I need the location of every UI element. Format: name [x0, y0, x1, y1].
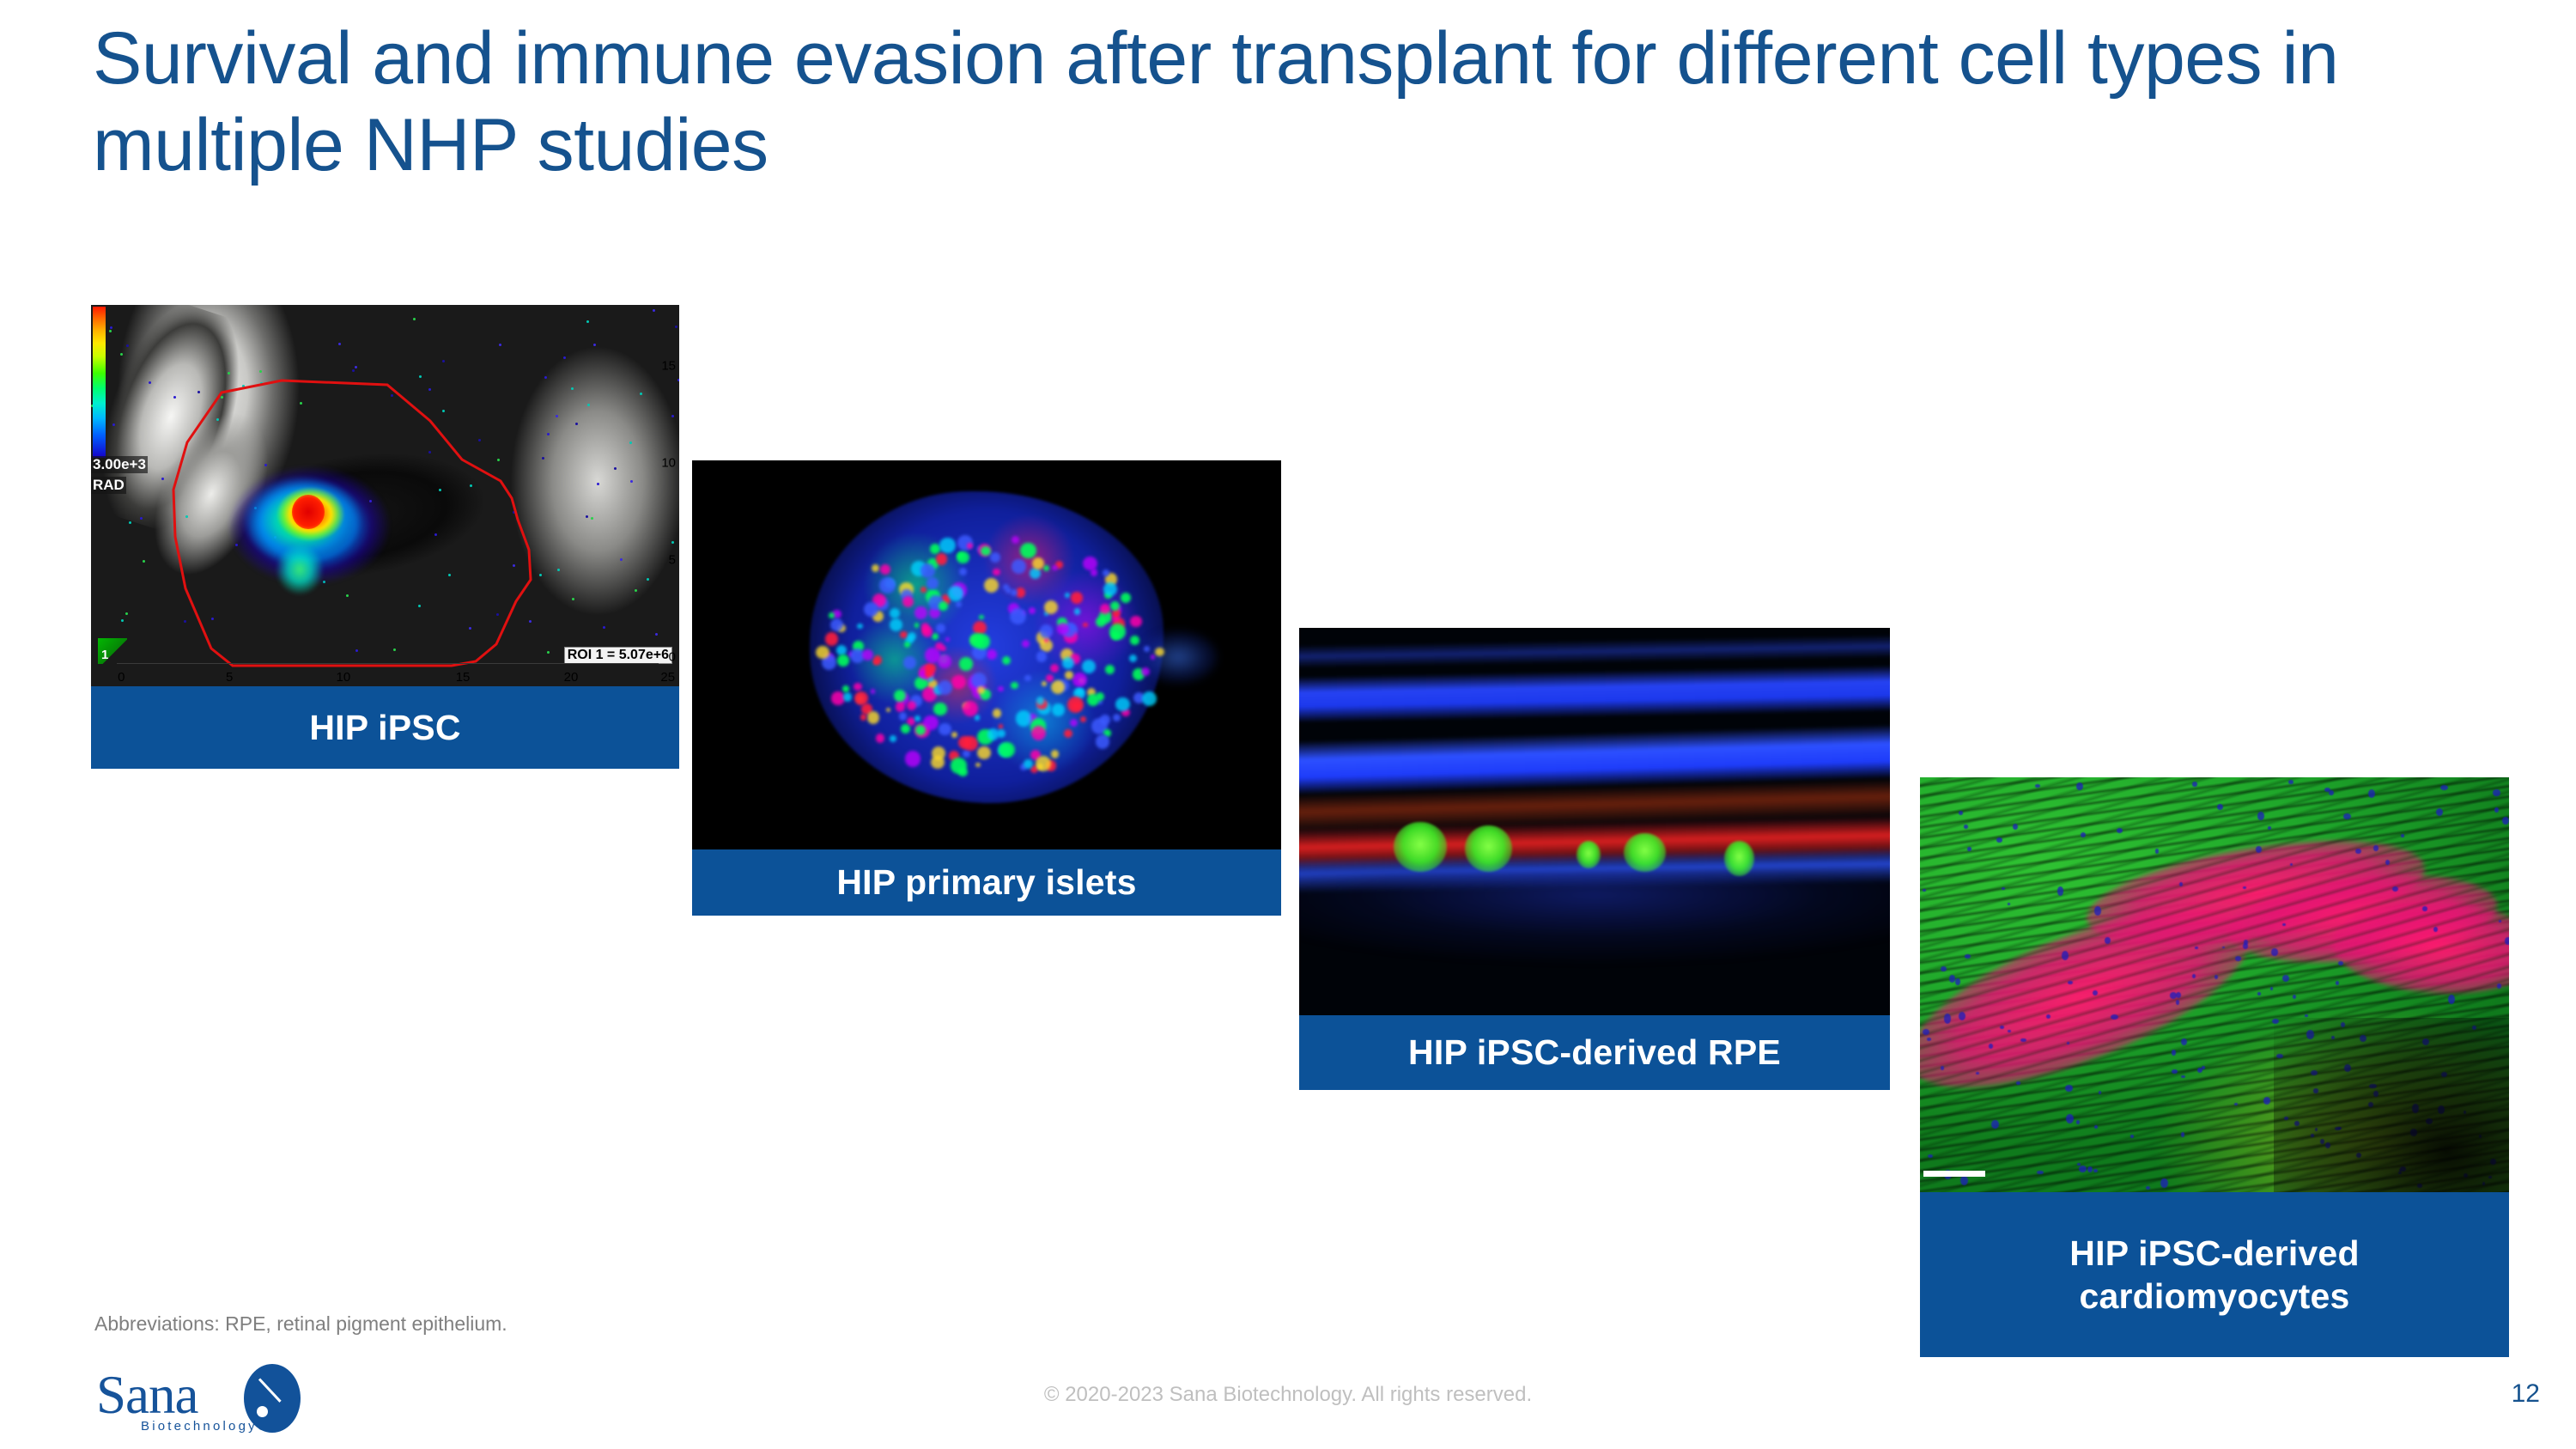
nucleus	[1967, 847, 1971, 850]
nucleus	[2368, 789, 2375, 798]
scale-bar	[1923, 1171, 1985, 1177]
nucleus	[2336, 981, 2339, 985]
islet-cell	[1115, 697, 1129, 711]
nucleus	[2493, 789, 2500, 796]
nucleus	[2502, 817, 2508, 825]
caption-text-line-2: cardiomyocytes	[2079, 1275, 2349, 1318]
nucleus	[2179, 882, 2183, 886]
y-tick: 15	[661, 359, 676, 374]
nucleus	[2197, 1068, 2203, 1074]
nucleus	[2155, 849, 2160, 854]
nucleus	[2079, 1166, 2087, 1172]
islet-cell	[998, 686, 1003, 691]
nucleus	[1923, 889, 1925, 892]
nucleus	[2176, 1000, 2179, 1004]
islet-cell	[1091, 569, 1097, 575]
islet-cell	[1080, 716, 1086, 722]
nucleus	[1965, 954, 1971, 959]
islet-cell	[880, 564, 890, 575]
myocardium-section	[1920, 777, 2509, 1192]
nucleus	[2271, 948, 2277, 956]
islet-cell	[902, 596, 914, 607]
nucleus	[2181, 1038, 2187, 1045]
nucleus	[2037, 1171, 2044, 1175]
nucleus	[1976, 1072, 1979, 1075]
x-tick: 25	[660, 670, 675, 685]
nucleus	[2355, 849, 2361, 854]
nucleus	[2270, 987, 2273, 990]
nucleus	[2222, 947, 2226, 948]
nucleus	[2068, 981, 2073, 985]
y-tick: 0	[669, 649, 676, 664]
nucleus	[2268, 826, 2271, 830]
nucleus	[2293, 995, 2296, 999]
islet-cell	[981, 546, 990, 556]
color-scale-unit-label: RAD	[91, 477, 126, 494]
copyright-notice: © 2020-2023 Sana Biotechnology. All righ…	[0, 1383, 2576, 1407]
retina-outer-nuclear-layer	[1299, 664, 1890, 722]
nucleus	[2081, 832, 2087, 837]
retina-nuclear-layer-faint	[1299, 634, 1890, 668]
islet-cell	[959, 657, 973, 671]
islet-cell	[951, 758, 967, 774]
islet-cell	[967, 543, 973, 549]
nucleus	[2433, 927, 2438, 932]
nucleus	[2077, 1163, 2081, 1166]
nucleus	[2076, 782, 2083, 790]
x-axis: 0 5 10 15 20 25	[110, 664, 679, 686]
nucleus	[2035, 784, 2039, 788]
islet-cell	[990, 552, 1000, 563]
nucleus	[2243, 943, 2249, 948]
islet-cell	[999, 742, 1014, 758]
plot-corner-marker: 1	[98, 638, 127, 664]
nucleus	[2235, 956, 2241, 960]
islet-cell	[975, 763, 981, 768]
nucleus	[1949, 975, 1955, 982]
retina-fluorescence-image	[1299, 628, 1890, 1015]
nucleus	[2076, 1120, 2080, 1124]
islet-cell	[914, 715, 920, 721]
nucleus	[2257, 812, 2263, 820]
islet-cell	[984, 578, 999, 593]
islet-cell	[1029, 607, 1036, 614]
islet-cell	[1057, 623, 1069, 635]
x-tick: 0	[118, 670, 125, 685]
nucleus	[2243, 886, 2246, 889]
nucleus	[2002, 887, 2005, 890]
nucleus	[2094, 906, 2101, 916]
islet-cell	[1051, 750, 1060, 758]
islet-cell	[1020, 543, 1036, 559]
nucleus	[2065, 1085, 2073, 1092]
islet-cell	[901, 724, 910, 734]
islet-cell	[825, 632, 839, 646]
nucleus	[2401, 834, 2403, 838]
nucleus	[1923, 1029, 1929, 1035]
islet-cell	[979, 615, 983, 619]
islet-cell	[894, 690, 906, 702]
nucleus	[2066, 1114, 2074, 1123]
nucleus	[2263, 1097, 2270, 1105]
graft-cluster	[1394, 822, 1447, 873]
islet-cell	[1064, 729, 1072, 738]
nucleus	[2436, 808, 2443, 816]
islet-cell	[1151, 654, 1155, 659]
islet-cell	[1012, 536, 1019, 544]
islet-cell	[1142, 691, 1157, 706]
plot-corner-label: 1	[101, 648, 108, 662]
islet-cell	[920, 587, 927, 593]
nucleus	[2057, 886, 2064, 896]
islet-cell	[932, 633, 939, 640]
islet-cell	[1036, 697, 1044, 704]
islet-cell	[931, 756, 944, 769]
nucleus	[1941, 1066, 1944, 1070]
islet-cell	[890, 618, 902, 631]
bioluminescence-image: 3.00e+3 RAD ROI 1 = 5.07e+6 1 0 5 10 15 …	[91, 305, 679, 686]
caption-text: HIP iPSC	[309, 707, 460, 748]
graft-cluster	[1577, 841, 1601, 868]
islet-cell	[867, 711, 880, 724]
nucleus	[2062, 951, 2069, 961]
islet-cell	[922, 626, 933, 636]
nucleus	[2067, 1042, 2069, 1044]
nucleus	[1928, 1154, 1933, 1158]
figure-caption-hip-ipsc: HIP iPSC	[91, 686, 679, 769]
nucleus	[2422, 906, 2428, 911]
nucleus	[2093, 990, 2098, 996]
nucleus	[2087, 1166, 2093, 1172]
islet-cell	[1062, 657, 1074, 669]
figure-panel-hip-rpe: HIP iPSC-derived RPE	[1299, 628, 1890, 1090]
nucleus	[2093, 1169, 2098, 1172]
islet-cell	[1010, 608, 1026, 624]
islet-cell	[860, 714, 867, 721]
nucleus	[2008, 1030, 2011, 1032]
nucleus	[2192, 974, 2196, 978]
nucleus	[2146, 1186, 2150, 1190]
nucleus	[2094, 1125, 2098, 1129]
islet-cell	[927, 577, 939, 589]
islet-cell	[1100, 604, 1110, 614]
nucleus	[1955, 978, 1960, 985]
islet-cell	[1129, 654, 1137, 662]
islet-cell	[1052, 703, 1065, 716]
islet-scene	[692, 460, 1281, 849]
islet-cell	[854, 683, 862, 691]
nucleus	[2290, 863, 2293, 866]
islet-cell	[939, 538, 956, 554]
nucleus	[2160, 1178, 2168, 1188]
islet-cell	[993, 569, 999, 575]
nucleus	[2172, 1050, 2176, 1056]
islet-cell	[1042, 681, 1047, 686]
nucleus	[2046, 1014, 2050, 1019]
nucleus	[2172, 1069, 2178, 1074]
nucleus	[1964, 825, 1969, 829]
nucleus	[2000, 1026, 2004, 1029]
islet-cell	[920, 563, 935, 578]
color-scale-bar	[93, 307, 106, 458]
islet-cell	[914, 606, 927, 619]
islet-cell	[1074, 608, 1081, 615]
islet-cell	[1024, 759, 1033, 769]
tissue-void-region	[2274, 1018, 2509, 1192]
roi-outline	[91, 305, 679, 686]
islet-cell	[1071, 592, 1083, 604]
islet-cell	[837, 654, 849, 667]
figure-caption-hip-islets: HIP primary islets	[692, 849, 1281, 916]
nucleus	[2008, 903, 2010, 904]
islet-cell	[1130, 636, 1139, 644]
nucleus	[2373, 845, 2378, 851]
caption-text-line-1: HIP iPSC-derived	[2069, 1232, 2359, 1275]
islet-cell	[1130, 616, 1142, 628]
nucleus	[2288, 780, 2293, 784]
nucleus	[2385, 860, 2390, 865]
islet-fluorescence-image	[692, 460, 1281, 849]
islet-cell	[905, 751, 920, 766]
islet-cell	[857, 624, 863, 630]
islet-cell	[1072, 673, 1087, 687]
islet-cell	[862, 649, 873, 661]
islet-cell	[1155, 648, 1163, 656]
islet-cell	[890, 735, 896, 742]
islet-cell	[987, 649, 997, 660]
nucleus	[2195, 947, 2197, 950]
islet-cell	[864, 602, 879, 618]
islet-cell	[956, 601, 962, 607]
islet-cell	[993, 709, 1002, 718]
nucleus	[2257, 992, 2260, 995]
islet-cell	[1100, 715, 1110, 725]
nucleus	[1944, 1014, 1951, 1023]
nucleus	[2176, 992, 2181, 998]
nucleus	[2338, 961, 2344, 965]
islet-cell	[816, 646, 829, 659]
islet-cell	[830, 618, 843, 631]
nucleus	[2499, 920, 2501, 922]
islet-cell	[1030, 568, 1041, 579]
x-tick: 5	[226, 670, 233, 685]
islet-cell	[977, 686, 985, 694]
nucleus	[2494, 807, 2498, 813]
islet-cell	[1032, 557, 1044, 569]
islet-cell	[903, 656, 916, 669]
page-title: Survival and immune evasion after transp…	[93, 15, 2368, 190]
figure-panel-hip-islets: HIP primary islets	[692, 460, 1281, 916]
islet-cell	[1050, 664, 1059, 673]
islet-cell	[975, 715, 981, 721]
nucleus	[1959, 1012, 1965, 1021]
islet-cell	[987, 728, 999, 740]
islet-cell	[1067, 697, 1084, 713]
islet-cell	[1052, 565, 1057, 570]
nucleus	[2181, 1075, 2185, 1078]
nucleus	[2256, 846, 2262, 853]
nucleus	[2305, 1014, 2308, 1017]
nucleus	[1960, 1176, 1968, 1186]
nucleus	[2282, 975, 2289, 982]
islet-cell	[876, 734, 884, 742]
nucleus	[2217, 804, 2223, 810]
islet-cell	[925, 670, 933, 678]
nucleus	[2099, 1091, 2101, 1094]
islet-cell	[871, 689, 875, 693]
nucleus	[2215, 975, 2219, 979]
islet-cell	[1036, 651, 1047, 661]
islet-cell	[939, 601, 948, 611]
islet-cell	[904, 642, 910, 648]
islet-cell	[936, 624, 945, 633]
nucleus	[2181, 1132, 2184, 1137]
islet-cell	[923, 715, 938, 730]
islet-cell	[957, 551, 969, 563]
graft-cluster	[1724, 841, 1753, 876]
figure-caption-hip-rpe: HIP iPSC-derived RPE	[1299, 1015, 1890, 1090]
x-tick: 15	[456, 670, 471, 685]
nucleus	[2192, 782, 2196, 786]
nucleus	[1996, 837, 2003, 843]
nucleus	[1927, 1038, 1932, 1041]
nucleus	[2497, 983, 2501, 988]
islet-cell	[879, 577, 896, 594]
x-tick: 10	[336, 670, 350, 685]
islet-cell	[1040, 624, 1053, 637]
nucleus	[1941, 966, 1946, 971]
islet-cell	[1065, 593, 1070, 598]
islet-cell	[958, 736, 971, 749]
nucleus	[2282, 923, 2286, 926]
page-number: 12	[2512, 1379, 2540, 1409]
islet-cell	[1011, 682, 1018, 689]
islet-cell	[914, 623, 919, 627]
figure-panel-hip-ipsc: 3.00e+3 RAD ROI 1 = 5.07e+6 1 0 5 10 15 …	[91, 305, 679, 769]
nucleus	[2234, 1103, 2238, 1105]
islet-cell	[843, 692, 853, 702]
islet-cell	[1044, 638, 1048, 642]
y-axis: 0 5 10 15	[655, 305, 677, 664]
caption-text: HIP primary islets	[836, 861, 1136, 903]
figure-caption-hip-cardiomyocytes: HIP iPSC-derived cardiomyocytes	[1920, 1192, 2509, 1357]
islet-cell	[959, 568, 967, 575]
color-scale-max-label: 3.00e+3	[91, 456, 148, 473]
nucleus	[2343, 813, 2351, 819]
islet-cell	[1012, 559, 1026, 574]
y-tick: 10	[661, 455, 676, 470]
graft-cluster	[1465, 825, 1512, 872]
islet-cell	[1011, 589, 1018, 596]
nucleus	[2020, 1038, 2026, 1042]
islet-cell	[939, 723, 951, 736]
nucleus	[2505, 937, 2509, 945]
choroid-region	[1299, 872, 1890, 988]
islet-cell	[1065, 671, 1072, 679]
islet-cell	[948, 586, 963, 601]
islet-cell	[899, 712, 907, 720]
retina-section	[1299, 628, 1890, 1015]
caption-text: HIP iPSC-derived RPE	[1408, 1032, 1781, 1073]
islet-cell	[854, 691, 868, 705]
islet-cell	[936, 553, 948, 565]
nucleus	[1959, 811, 1964, 815]
nucleus	[1991, 1120, 1998, 1129]
nucleus	[2448, 995, 2455, 1004]
myocardium-fluorescence-image	[1920, 777, 2509, 1192]
nucleus	[1989, 1044, 1993, 1049]
nucleus	[2016, 1081, 2020, 1084]
figure-panel-hip-cardiomyocytes: HIP iPSC-derived cardiomyocytes	[1920, 777, 2509, 1357]
graft-cluster	[1624, 833, 1665, 872]
islet-cell	[951, 675, 965, 689]
y-tick: 5	[669, 552, 676, 567]
islet-cell	[1024, 675, 1030, 681]
nucleus	[2111, 1014, 2118, 1020]
nucleus	[2105, 937, 2111, 944]
abbreviations-note: Abbreviations: RPE, retinal pigment epit…	[94, 1312, 507, 1336]
x-tick: 20	[564, 670, 579, 685]
nucleus	[2013, 824, 2018, 830]
islet-cell	[963, 750, 970, 758]
nucleus	[2117, 828, 2123, 833]
nucleus	[2130, 1135, 2134, 1138]
islet-cell	[1110, 601, 1120, 611]
nucleus	[2440, 785, 2448, 790]
islet-cell	[900, 631, 908, 639]
islet-cell	[977, 746, 990, 759]
nucleus	[2392, 886, 2398, 892]
islet-cell	[1109, 624, 1126, 640]
